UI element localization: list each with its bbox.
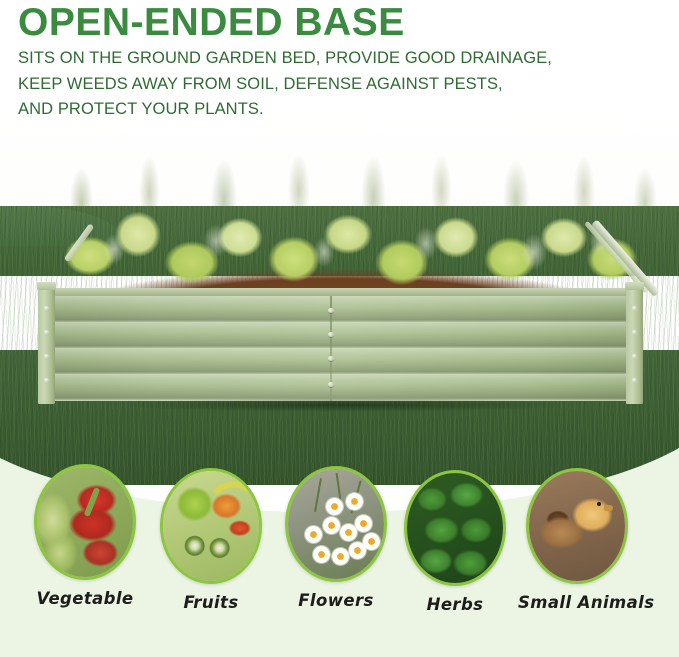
use-case-tile-fruits[interactable]: Fruits [152,468,270,612]
raised-garden-bed [38,160,643,425]
subtitle-line-3: AND PROTECT YOUR PLANTS. [18,99,658,121]
corrugation-ribs [50,296,635,401]
herbs-art [407,473,503,583]
post-bolt [632,306,637,311]
use-case-label-small-animals: Small Animals [518,593,636,612]
corner-post-right [626,288,643,404]
subtitle-line-2: KEEP WEEDS AWAY FROM SOIL, DEFENSE AGAIN… [18,74,658,96]
use-case-tile-flowers[interactable]: Flowers [277,466,395,610]
post-bolt [44,378,49,383]
seam-bolt [328,382,334,387]
use-case-tile-herbs[interactable]: Herbs [396,470,514,614]
seam-bolt [328,356,334,361]
post-bolt [632,378,637,383]
small-animals-art [529,471,625,581]
infographic-root: OPEN-ENDED BASE SITS ON THE GROUND GARDE… [0,0,679,657]
seam-bolt [328,308,334,313]
page-title: OPEN-ENDED BASE [18,2,658,44]
post-bolt [44,330,49,335]
post-bolt [44,354,49,359]
subtitle-line-1: SITS ON THE GROUND GARDEN BED, PROVIDE G… [18,48,658,70]
flowers-icon[interactable] [285,466,387,582]
header-block: OPEN-ENDED BASE SITS ON THE GROUND GARDE… [18,2,658,121]
bed-front-wall [50,296,635,401]
use-case-tiles: Vegetable Fruits [0,458,679,618]
use-case-label-fruits: Fruits [152,593,270,612]
use-case-tile-small-animals[interactable]: Small Animals [518,468,636,612]
seam-bolt [328,332,334,337]
herbs-icon[interactable] [404,470,506,586]
small-animals-icon[interactable] [526,468,628,584]
post-cap [625,282,644,290]
fruits-icon[interactable] [160,468,262,584]
fruits-art [163,471,259,581]
bed-ground-shadow [58,398,633,412]
vegetable-icon[interactable] [34,464,136,580]
use-case-label-vegetable: Vegetable [26,589,144,608]
product-photo-scene [0,110,679,485]
post-bolt [632,354,637,359]
flowers-art [288,469,384,579]
dusty-miller-tufts [42,168,642,308]
corner-post-left [38,288,55,404]
use-case-label-flowers: Flowers [277,591,395,610]
post-cap [37,282,56,290]
post-bolt [44,306,49,311]
use-case-tile-vegetable[interactable]: Vegetable [26,464,144,608]
post-bolt [632,330,637,335]
vegetable-art [37,467,133,577]
use-case-label-herbs: Herbs [396,595,514,614]
